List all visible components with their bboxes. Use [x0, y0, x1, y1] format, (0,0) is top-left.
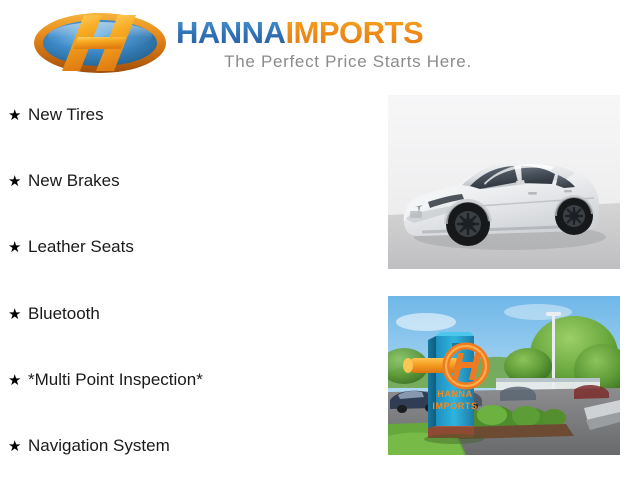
list-item-label: Leather Seats [28, 237, 134, 257]
media-panel: HANNA IMPORTS [388, 95, 620, 455]
list-item-label: New Brakes [28, 171, 120, 191]
svg-text:IMPORTS: IMPORTS [432, 401, 477, 411]
list-item: ★ *Multi Point Inspection* [8, 367, 203, 393]
star-bullet-icon: ★ [8, 439, 28, 454]
star-bullet-icon: ★ [8, 373, 28, 388]
svg-text:HANNA: HANNA [437, 389, 473, 399]
star-bullet-icon: ★ [8, 174, 28, 189]
brand-header: HANNAIMPORTS The Perfect Price Starts He… [0, 0, 640, 92]
listing-feature-slide: HANNAIMPORTS The Perfect Price Starts He… [0, 0, 640, 480]
list-item: ★ Bluetooth [8, 301, 100, 327]
dealership-exterior-photo[interactable]: HANNA IMPORTS [388, 296, 620, 455]
brand-word-imports: IMPORTS [285, 15, 423, 50]
list-item-label: Navigation System [28, 436, 170, 456]
list-item: ★ New Tires [8, 102, 104, 128]
vehicle-exterior-photo[interactable] [388, 95, 620, 269]
list-item: ★ Leather Seats [8, 234, 134, 260]
brand-wordmark: HANNAIMPORTS [176, 16, 520, 50]
list-item: ★ Navigation System [8, 433, 170, 459]
star-bullet-icon: ★ [8, 307, 28, 322]
list-item: ★ New Brakes [8, 168, 120, 194]
star-bullet-icon: ★ [8, 240, 28, 255]
brand-tagline: The Perfect Price Starts Here. [176, 52, 520, 72]
brand-word-hanna: HANNA [176, 15, 285, 50]
list-item-label: *Multi Point Inspection* [28, 370, 203, 390]
hanna-oval-h-logo-icon [32, 11, 168, 75]
list-item-label: Bluetooth [28, 304, 100, 324]
list-item-label: New Tires [28, 105, 104, 125]
star-bullet-icon: ★ [8, 108, 28, 123]
vehicle-feature-list: ★ New Tires ★ New Brakes ★ Leather Seats… [0, 95, 380, 475]
